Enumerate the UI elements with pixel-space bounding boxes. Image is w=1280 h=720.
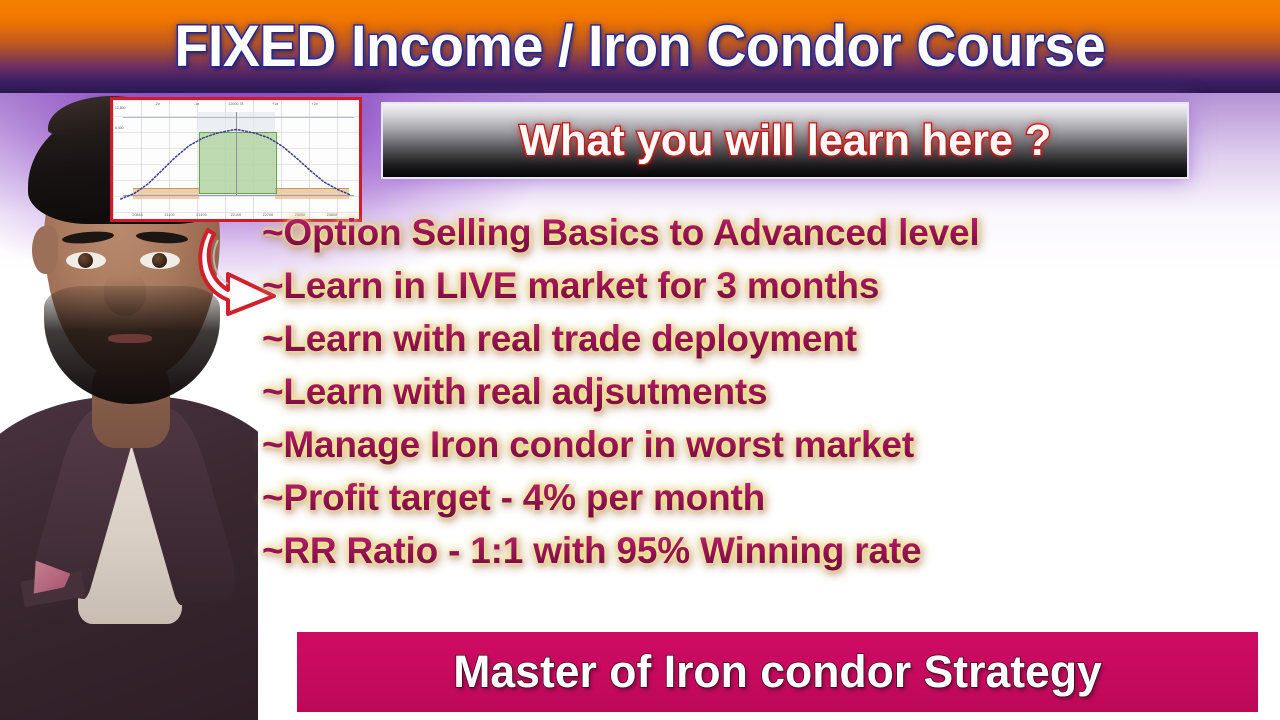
header-band: FIXED Income / Iron Condor Course [0,0,1280,93]
list-item: ~Learn with real adjsutments [262,365,1262,418]
page-title: FIXED Income / Iron Condor Course [0,16,1280,78]
iron-condor-payoff-chart: -2σ -1σ 22000.78 +1σ +2σ 20840 21100 214… [110,97,362,222]
chart-tick-bottom: 22100 [231,213,242,217]
portrait-iris-right [152,253,167,268]
chart-probability-curve [113,100,359,219]
page-title-text: FIXED Income / Iron Condor Course [175,16,1106,78]
chart-tick-top: -1σ [194,102,199,106]
chart-tick-top: 22000.78 [229,102,244,106]
list-item: ~RR Ratio - 1:1 with 95% Winning rate [262,524,1262,577]
list-item: ~Learn in LIVE market for 3 months [262,259,1262,312]
chart-tick-bottom: 21100 [164,213,174,217]
chart-tick-top: +1σ [272,102,278,106]
portrait-eye-left [66,252,106,269]
benefits-list: ~Option Selling Basics to Advanced level… [262,206,1262,577]
footer-banner: Master of Iron condor Strategy [297,632,1258,712]
chart-y-label-top: 12,800 [115,106,125,110]
list-item: ~Profit target - 4% per month [262,471,1262,524]
chart-y-label-mid: 6,400 [115,126,124,130]
portrait-eye-right [140,252,180,269]
list-item: ~Manage Iron condor in worst market [262,418,1262,471]
learn-banner: What you will learn here ? [381,102,1189,179]
portrait-beard [44,286,220,404]
chart-tick-bottom: 20840 [132,213,143,217]
poster-root: FIXED Income / Iron Condor Course [0,0,1280,720]
chart-tick-top: -2σ [155,102,160,106]
portrait-ear [32,226,58,274]
portrait-iris-left [78,253,93,268]
chart-plot-area: -2σ -1σ 22000.78 +1σ +2σ 20840 21100 214… [113,100,359,219]
chart-tick-top: +2σ [312,102,318,106]
list-item: ~Learn with real trade deployment [262,312,1262,365]
chart-tick-bottom: 21400 [196,213,207,217]
portrait-mouth [108,334,152,343]
list-item: ~Option Selling Basics to Advanced level [262,206,1262,259]
learn-banner-title: What you will learn here ? [519,117,1051,165]
footer-banner-title: Master of Iron condor Strategy [453,647,1102,697]
